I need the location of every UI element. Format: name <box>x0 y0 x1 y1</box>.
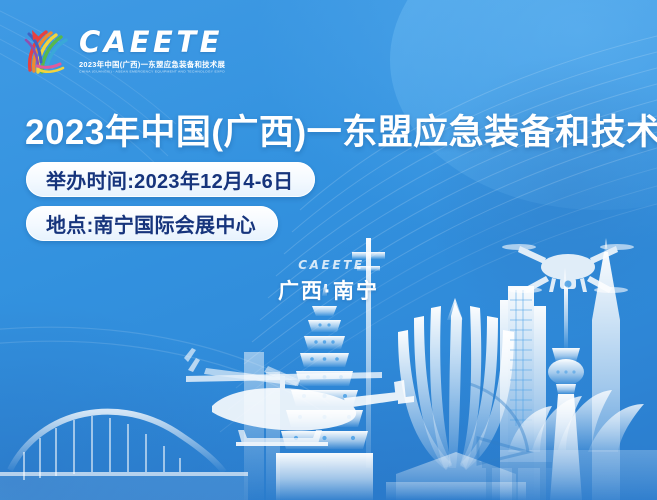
pagoda-windows <box>294 323 355 440</box>
logo-wordmark: CAEETE <box>79 28 225 57</box>
tv-tower-windows <box>556 370 575 373</box>
event-banner: CAEETE 2023年中国(广西)一东盟应急装备和技术展 CHINA (GUA… <box>0 0 657 500</box>
logo-subtitle-en: CHINA (GUANGXI) - ASEAN EMERGENCY EQUIPM… <box>79 70 225 74</box>
event-title: 2023年中国(广西)一东盟应急装备和技术展 <box>25 104 657 155</box>
pointed-skyscraper <box>592 238 620 500</box>
caeete-logo: CAEETE 2023年中国(广西)一东盟应急装备和技术展 CHINA (GUA… <box>24 26 225 76</box>
opera-house <box>500 390 657 500</box>
pagoda-tower <box>276 284 373 500</box>
city-caption-cn: 广西·南宁 <box>0 275 657 305</box>
convention-center-base <box>386 452 526 500</box>
radio-mast <box>352 238 385 468</box>
sail-boat <box>470 384 528 464</box>
office-tower <box>500 286 546 500</box>
event-venue-pill: 地点:南宁国际会展中心 <box>26 206 278 241</box>
caeete-phoenix-wing-logo <box>24 26 70 76</box>
office-tower-windows <box>510 290 532 426</box>
city-caption-en: CAEETE <box>6 258 657 272</box>
city-caption: CAEETE 广西·南宁 <box>0 258 657 305</box>
tv-tower <box>548 268 584 500</box>
drone <box>502 244 634 293</box>
pier-structures <box>482 462 552 500</box>
nanning-convention-center <box>398 298 514 470</box>
logo-subtitle-cn: 2023年中国(广西)一东盟应急装备和技术展 <box>79 61 225 69</box>
helicopter <box>184 348 414 446</box>
event-date-pill: 举办时间:2023年12月4-6日 <box>26 162 315 197</box>
arch-bridge <box>0 412 248 500</box>
distant-buildings <box>244 352 280 500</box>
